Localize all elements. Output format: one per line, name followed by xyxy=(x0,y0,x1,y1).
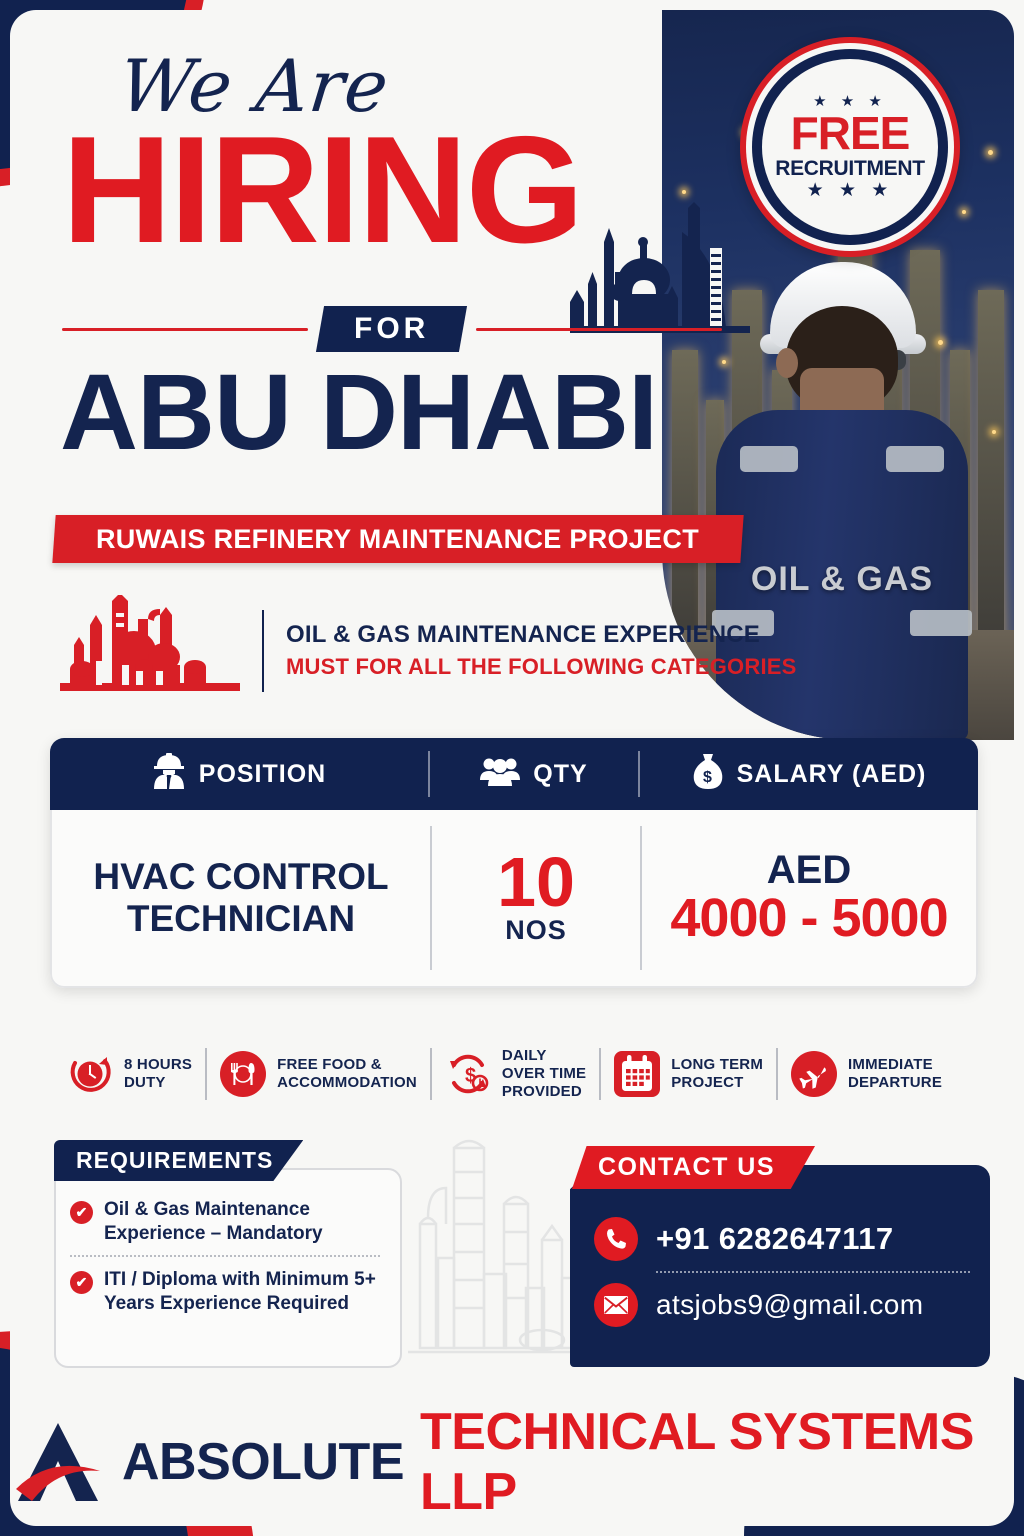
contact-box: +91 6282647117 atsjobs9@gmail.com xyxy=(570,1165,990,1367)
requirement-text-1: ITI / Diploma with Minimum 5+ Years Expe… xyxy=(104,1268,382,1315)
footer-tagline: TRUSTED RECRUITMENT PARTNER FOR GLOBAL O… xyxy=(143,1525,881,1526)
benefit-long-term-project: LONG TERM PROJECT xyxy=(601,1041,776,1107)
people-group-icon xyxy=(480,756,520,793)
meal-icon xyxy=(220,1051,266,1097)
company-name-part-2: TECHNICAL SYSTEMS LLP xyxy=(420,1402,1014,1522)
svg-text:$: $ xyxy=(465,1065,476,1087)
destination-title: ABU DHABI xyxy=(60,358,657,466)
experience-line-1: OIL & GAS MAINTENANCE EXPERIENCE xyxy=(286,621,797,649)
qty-unit: NOS xyxy=(505,915,567,946)
experience-divider xyxy=(262,610,264,692)
table-header-position-label: POSITION xyxy=(199,760,326,789)
svg-text:$: $ xyxy=(703,769,713,786)
badge-stars-bottom: ★ ★ ★ xyxy=(807,181,894,200)
cell-salary: AED 4000 - 5000 xyxy=(642,849,976,946)
refinery-icon xyxy=(60,595,240,706)
phone-icon xyxy=(594,1217,638,1261)
benefit-8-hours-duty: 8 HOURS DUTY xyxy=(54,1041,205,1107)
contact-email-address: atsjobs9@gmail.com xyxy=(656,1289,924,1321)
check-icon: ✔ xyxy=(70,1201,93,1224)
requirements-box: ✔ Oil & Gas Maintenance Experience – Man… xyxy=(54,1168,402,1368)
benefit-0-line1: 8 HOURS xyxy=(124,1056,192,1074)
table-header-position: POSITION xyxy=(50,751,428,797)
position-line-2: TECHNICIAN xyxy=(93,898,388,940)
experience-requirement-row: OIL & GAS MAINTENANCE EXPERIENCE MUST FO… xyxy=(60,595,797,706)
cell-position: HVAC CONTROL TECHNICIAN xyxy=(52,856,430,940)
coverall-oil-and-gas-text: OIL & GAS xyxy=(716,560,968,599)
worker-helmet-icon xyxy=(152,753,186,796)
requirements-divider xyxy=(70,1255,380,1257)
check-icon: ✔ xyxy=(70,1271,93,1294)
calendar-icon xyxy=(614,1051,660,1097)
salary-currency: AED xyxy=(767,849,851,891)
money-bag-icon: $ xyxy=(692,752,724,797)
benefit-daily-overtime: $ DAILY OVER TIME PROVIDED xyxy=(432,1041,599,1107)
contact-email-row[interactable]: atsjobs9@gmail.com xyxy=(594,1277,970,1333)
experience-line-2: MUST FOR ALL THE FOLLOWING CATEGORIES xyxy=(286,654,797,680)
qty-number: 10 xyxy=(497,850,575,914)
for-line-left xyxy=(62,328,308,331)
overtime-icon: $ xyxy=(445,1051,491,1097)
benefit-2-line1: DAILY xyxy=(502,1047,586,1065)
footer: ABSOLUTE TECHNICAL SYSTEMS LLP TRUSTED R… xyxy=(10,1402,1014,1526)
page-title-hiring: HIRING xyxy=(62,114,582,266)
benefit-4-line1: IMMEDIATE xyxy=(848,1056,942,1074)
benefit-3-line2: PROJECT xyxy=(671,1074,763,1092)
for-divider-row: FOR xyxy=(62,306,722,352)
contact-us-title: CONTACT US xyxy=(572,1146,815,1189)
refinery-watermark-icon xyxy=(408,1128,588,1378)
position-line-1: HVAC CONTROL xyxy=(93,856,388,898)
envelope-icon xyxy=(594,1283,638,1327)
benefit-1-line1: FREE FOOD & xyxy=(277,1056,417,1074)
benefit-0-line2: DUTY xyxy=(124,1074,192,1092)
badge-recruitment-label: RECRUITMENT xyxy=(775,158,925,179)
project-name-text: RUWAIS REFINERY MAINTENANCE PROJECT xyxy=(96,524,699,555)
table-header-salary-label: SALARY (AED) xyxy=(737,760,927,789)
benefit-free-food-accommodation: FREE FOOD & ACCOMMODATION xyxy=(207,1041,430,1107)
job-positions-table: POSITION xyxy=(50,738,978,988)
for-label-tag: FOR xyxy=(316,306,467,352)
benefit-2-line2: OVER TIME xyxy=(502,1065,586,1083)
table-header-row: POSITION xyxy=(50,738,978,810)
poster-inner-frame: OIL & GAS ★ ★ ★ FREE RECRUITMENT ★ ★ ★ W… xyxy=(10,10,1014,1526)
benefit-1-line2: ACCOMMODATION xyxy=(277,1074,417,1092)
benefit-4-line2: DEPARTURE xyxy=(848,1074,942,1092)
table-header-qty: QTY xyxy=(428,751,640,797)
benefits-row: 8 HOURS DUTY xyxy=(54,1028,978,1120)
table-row: HVAC CONTROL TECHNICIAN 10 NOS AED 4000 … xyxy=(50,810,978,988)
free-recruitment-badge: ★ ★ ★ FREE RECRUITMENT ★ ★ ★ xyxy=(740,37,960,257)
recruitment-poster: OIL & GAS ★ ★ ★ FREE RECRUITMENT ★ ★ ★ W… xyxy=(0,0,1024,1536)
requirements-title-tab: REQUIREMENTS xyxy=(54,1140,303,1181)
table-header-salary: $ SALARY (AED) xyxy=(640,751,978,797)
project-name-banner: RUWAIS REFINERY MAINTENANCE PROJECT xyxy=(52,515,743,563)
badge-free-label: FREE xyxy=(791,111,910,156)
contact-divider xyxy=(656,1271,970,1273)
company-name-part-1: ABSOLUTE xyxy=(122,1432,404,1492)
requirement-text-0: Oil & Gas Maintenance Experience – Manda… xyxy=(104,1198,382,1245)
benefit-3-line1: LONG TERM xyxy=(671,1056,763,1074)
requirement-item-1: ✔ ITI / Diploma with Minimum 5+ Years Ex… xyxy=(70,1268,382,1315)
cell-qty: 10 NOS xyxy=(432,850,640,945)
benefit-2-line3: PROVIDED xyxy=(502,1083,586,1101)
benefit-immediate-departure: IMMEDIATE DEPARTURE xyxy=(778,1041,955,1107)
airplane-icon xyxy=(791,1051,837,1097)
table-header-qty-label: QTY xyxy=(533,760,587,789)
worker-ear xyxy=(776,348,798,378)
contact-phone-row[interactable]: +91 6282647117 xyxy=(594,1211,970,1267)
clock-icon xyxy=(67,1051,113,1097)
salary-range: 4000 - 5000 xyxy=(670,891,947,946)
requirement-item-0: ✔ Oil & Gas Maintenance Experience – Man… xyxy=(70,1198,382,1245)
absolute-a-logo xyxy=(10,1419,106,1505)
contact-phone-number: +91 6282647117 xyxy=(656,1221,894,1257)
for-line-right xyxy=(476,328,722,331)
